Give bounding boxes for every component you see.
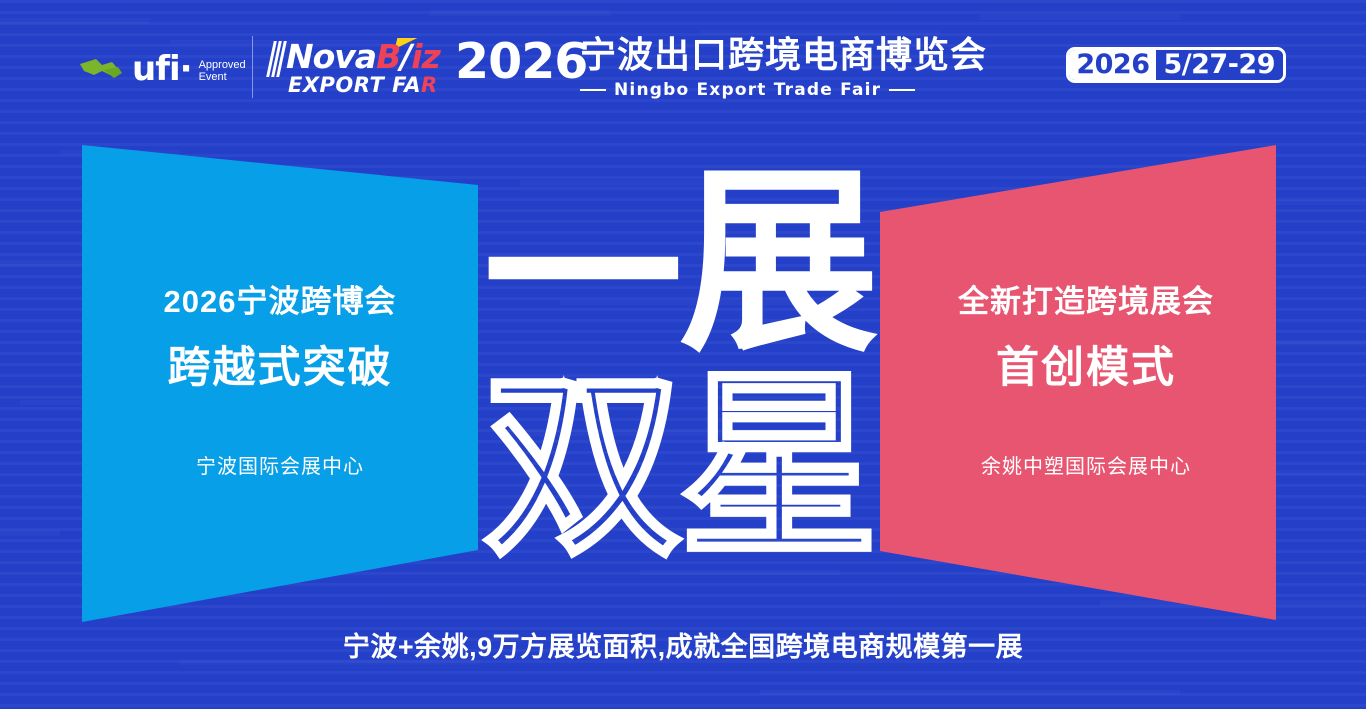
banner-header: ufi· Approved Event NovaB/iz EXPORT FAR … bbox=[0, 0, 1366, 120]
date-badge-range: 5/27-29 bbox=[1156, 50, 1283, 80]
novabiz-iz: iz bbox=[411, 37, 440, 76]
novabiz-exportfa: EXPORT FA bbox=[288, 73, 421, 97]
ufi-swoosh-icon bbox=[78, 56, 130, 82]
ufi-wordmark: ufi· bbox=[132, 52, 192, 86]
right-panel-subhead: 首创模式 bbox=[996, 333, 1176, 395]
date-badge-year: 2026 bbox=[1069, 50, 1156, 80]
left-panel-subhead: 跨越式突破 bbox=[168, 333, 393, 395]
date-badge: 2026 5/27-29 bbox=[1066, 47, 1286, 83]
right-panel-venue: 余姚中塑国际会展中心 bbox=[981, 450, 1191, 479]
header-divider bbox=[252, 36, 253, 98]
ufi-subtitle: Approved Event bbox=[199, 56, 246, 83]
hero-char-zhan: 展 bbox=[679, 164, 879, 364]
footer-tagline: 宁波+余姚,9万方展览面积,成就全国跨境电商规模第一展 bbox=[0, 625, 1366, 664]
novabiz-wordmark-line1: NovaB/iz bbox=[286, 37, 440, 77]
ufi-subtitle-line2: Event bbox=[199, 71, 227, 83]
title-rule-left bbox=[580, 89, 606, 91]
novabiz-b: B bbox=[376, 37, 400, 76]
title-rule-right bbox=[889, 89, 915, 91]
novabiz-r: R bbox=[421, 73, 438, 97]
novabiz-nova: Nova bbox=[286, 37, 376, 76]
title-year: 2026 bbox=[455, 34, 587, 90]
novabiz-logo: NovaB/iz EXPORT FAR bbox=[270, 40, 422, 98]
ufi-logo: ufi· Approved Event bbox=[78, 48, 246, 90]
title-chinese: 宁波出口跨境电商博览会 bbox=[580, 34, 987, 76]
left-panel-venue: 宁波国际会展中心 bbox=[196, 450, 364, 479]
ufi-subtitle-line1: Approved bbox=[199, 59, 246, 71]
hero-char-yi: 一 bbox=[483, 178, 683, 378]
hero-char-xing: 星 bbox=[679, 368, 879, 568]
title-english-wrap: Ningbo Export Trade Fair bbox=[580, 80, 858, 100]
hero-slogan: 一 展 双 星 bbox=[483, 178, 883, 568]
title-english: Ningbo Export Trade Fair bbox=[614, 80, 881, 100]
right-panel-headline: 全新打造跨境展会 bbox=[958, 276, 1214, 321]
novabiz-wordmark-line2: EXPORT FAR bbox=[288, 72, 438, 98]
novabiz-bars-icon bbox=[270, 41, 286, 77]
novabiz-slash: / bbox=[400, 37, 411, 76]
left-panel-headline: 2026宁波跨博会 bbox=[164, 276, 397, 321]
hero-char-shuang: 双 bbox=[483, 368, 683, 568]
